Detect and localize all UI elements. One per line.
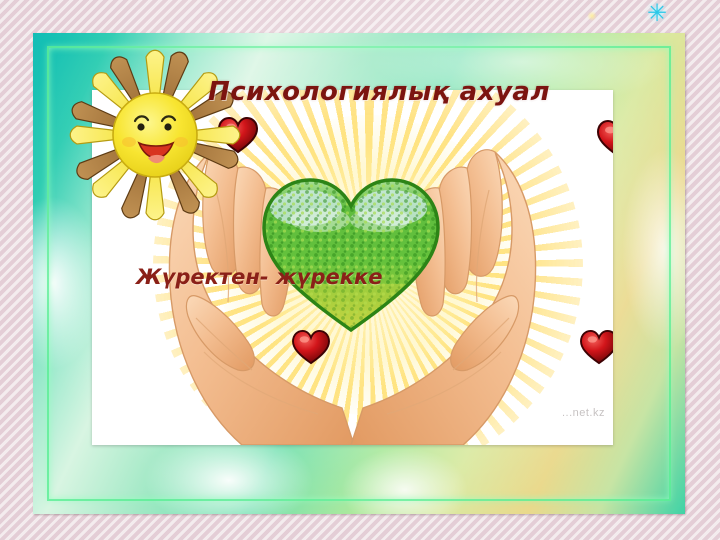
red-heart-icon bbox=[291, 329, 331, 365]
page-title: Психологиялық ахуал bbox=[33, 77, 685, 107]
watermark-text: ...net.kz bbox=[562, 407, 605, 419]
red-heart-icon bbox=[596, 119, 613, 157]
green-heart-image bbox=[260, 172, 442, 334]
sparkle-star-icon: ✳ bbox=[645, 2, 669, 26]
slide[interactable]: Психологиялық ахуал bbox=[33, 33, 685, 514]
presentation-background: ✳ Психологиялық ахуал bbox=[0, 0, 720, 540]
inner-heart-text: Жүректен- жүрекке bbox=[136, 265, 576, 289]
sparkle-dot-icon bbox=[587, 11, 597, 21]
red-heart-icon bbox=[579, 329, 613, 365]
smiling-sun-icon bbox=[55, 47, 255, 232]
